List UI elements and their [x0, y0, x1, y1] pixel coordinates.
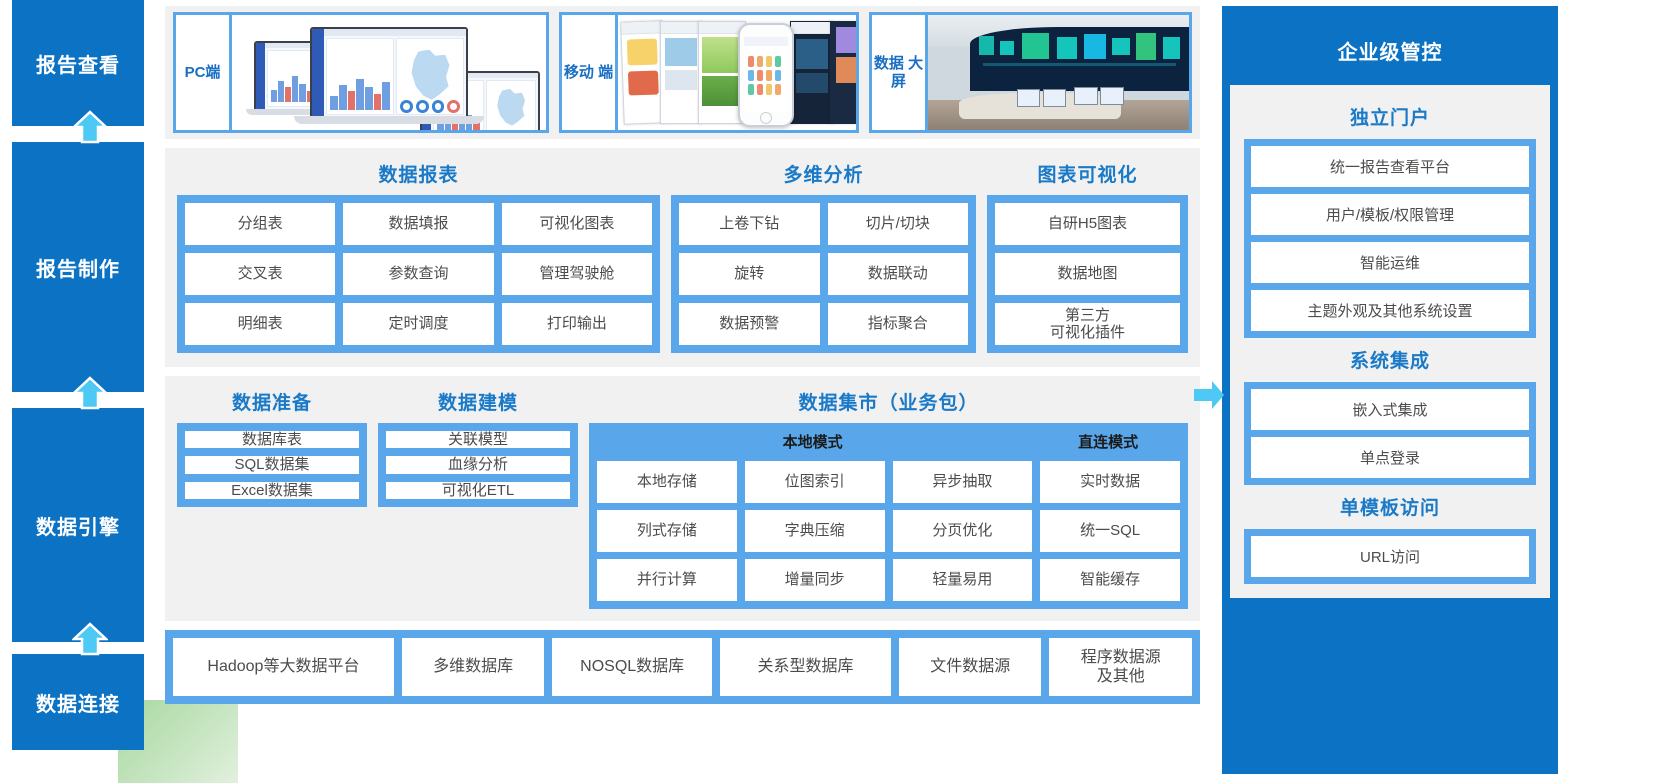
group-box: 上卷下钻 切片/切块 旋转 数据联动 数据预警 指标聚合 — [671, 195, 976, 353]
group-row: 并行计算 增量同步 轻量易用 智能缓存 — [597, 559, 1180, 601]
feature-cell[interactable]: 切片/切块 — [828, 203, 969, 245]
feature-cell[interactable]: 数据预警 — [679, 303, 820, 345]
group-row: 数据预警 指标聚合 — [679, 303, 968, 345]
stage-data-engine[interactable]: 数据引擎 — [12, 408, 144, 642]
device-label-mobile: 移动 端 — [562, 15, 618, 130]
stage-label: 报告查看 — [36, 49, 120, 78]
group-title: 数据集市（业务包） — [589, 386, 1188, 423]
stage-arrow-up-2 — [72, 376, 108, 410]
datasource-cell[interactable]: 多维数据库 — [402, 638, 545, 696]
report-layer-panel: 数据报表 分组表 数据填报 可视化图表 交叉表 参数查询 管理驾驶舱 明细表 定 — [165, 148, 1200, 367]
feature-cell[interactable]: 关联模型 — [386, 431, 570, 448]
feature-cell[interactable]: 旋转 — [679, 253, 820, 295]
feature-cell[interactable]: 本地存储 — [597, 461, 737, 503]
governance-item[interactable]: 单点登录 — [1251, 437, 1529, 478]
connection-layer-strip: Hadoop等大数据平台 多维数据库 NOSQL数据库 关系型数据库 文件数据源… — [165, 630, 1200, 704]
feature-cell[interactable]: 分页优化 — [893, 510, 1033, 552]
governance-group-box: 统一报告查看平台 用户/模板/权限管理 智能运维 主题外观及其他系统设置 — [1244, 139, 1536, 338]
feature-cell[interactable]: 可视化图表 — [502, 203, 652, 245]
datasource-cell[interactable]: NOSQL数据库 — [552, 638, 712, 696]
group-row: 数据地图 — [995, 253, 1180, 295]
feature-cell[interactable]: 位图索引 — [745, 461, 885, 503]
feature-cell[interactable]: 自研H5图表 — [995, 203, 1180, 245]
feature-cell[interactable]: 参数查询 — [343, 253, 493, 295]
feature-cell[interactable]: 第三方 可视化插件 — [995, 303, 1180, 345]
stage-report-view[interactable]: 报告查看 — [12, 0, 144, 126]
group-row: 分组表 数据填报 可视化图表 — [185, 203, 652, 245]
group-box: 分组表 数据填报 可视化图表 交叉表 参数查询 管理驾驶舱 明细表 定时调度 打… — [177, 195, 660, 353]
stage-label: 数据引擎 — [36, 511, 120, 540]
feature-cell[interactable]: 列式存储 — [597, 510, 737, 552]
governance-item[interactable]: 主题外观及其他系统设置 — [1251, 290, 1529, 331]
group-row: 列式存储 字典压缩 分页优化 统一SQL — [597, 510, 1180, 552]
feature-cell[interactable]: 并行计算 — [597, 559, 737, 601]
group-title: 多维分析 — [671, 158, 976, 195]
feature-cell[interactable]: 增量同步 — [745, 559, 885, 601]
datasource-cell[interactable]: 程序数据源 及其他 — [1049, 638, 1192, 696]
feature-cell[interactable]: 血缘分析 — [386, 456, 570, 473]
feature-cell[interactable]: 定时调度 — [343, 303, 493, 345]
governance-title: 企业级管控 — [1230, 14, 1550, 85]
governance-group-box: URL访问 — [1244, 529, 1536, 584]
main-architecture-column: PC端 — [165, 6, 1200, 704]
feature-cell[interactable]: 轻量易用 — [893, 559, 1033, 601]
feature-cell[interactable]: 实时数据 — [1040, 461, 1180, 503]
device-card-mobile[interactable]: 移动 端 — [559, 12, 859, 133]
group-data-preparation: 数据准备 数据库表 SQL数据集 Excel数据集 — [177, 386, 367, 507]
group-data-mart: 数据集市（业务包） 本地模式 直连模式 本地存储 位图索引 异步抽取 实时数据 … — [589, 386, 1188, 609]
governance-group-box: 嵌入式集成 单点登录 — [1244, 382, 1536, 485]
governance-panel: 企业级管控 独立门户 统一报告查看平台 用户/模板/权限管理 智能运维 主题外观… — [1222, 6, 1558, 774]
device-card-pc[interactable]: PC端 — [173, 12, 549, 133]
engine-layer-panel: 数据准备 数据库表 SQL数据集 Excel数据集 数据建模 关联模型 血缘分析… — [165, 376, 1200, 621]
group-box: 本地模式 直连模式 本地存储 位图索引 异步抽取 实时数据 列式存储 字典压缩 … — [589, 423, 1188, 609]
feature-cell[interactable]: 异步抽取 — [893, 461, 1033, 503]
stage-label: 数据连接 — [36, 688, 120, 717]
feature-cell[interactable]: 可视化ETL — [386, 482, 570, 499]
device-card-bigscreen[interactable]: 数据 大屏 — [869, 12, 1192, 133]
stage-report-build[interactable]: 报告制作 — [12, 142, 144, 392]
datasource-cell[interactable]: 关系型数据库 — [720, 638, 891, 696]
mode-header-local: 本地模式 — [597, 431, 1028, 452]
mode-header-direct: 直连模式 — [1036, 431, 1180, 452]
governance-group-title: 系统集成 — [1244, 338, 1536, 382]
group-box: 自研H5图表 数据地图 第三方 可视化插件 — [987, 195, 1188, 353]
feature-cell[interactable]: 数据地图 — [995, 253, 1180, 295]
group-title: 数据报表 — [177, 158, 660, 195]
group-data-modeling: 数据建模 关联模型 血缘分析 可视化ETL — [378, 386, 578, 507]
governance-inner: 独立门户 统一报告查看平台 用户/模板/权限管理 智能运维 主题外观及其他系统设… — [1230, 85, 1550, 598]
governance-item[interactable]: 嵌入式集成 — [1251, 389, 1529, 430]
group-data-report: 数据报表 分组表 数据填报 可视化图表 交叉表 参数查询 管理驾驶舱 明细表 定 — [177, 158, 660, 353]
feature-cell[interactable]: 数据填报 — [343, 203, 493, 245]
datasource-cell[interactable]: 文件数据源 — [899, 638, 1042, 696]
group-box: 数据库表 SQL数据集 Excel数据集 — [177, 423, 367, 507]
feature-cell[interactable]: 数据联动 — [828, 253, 969, 295]
group-row: 本地存储 位图索引 异步抽取 实时数据 — [597, 461, 1180, 503]
stage-data-connection[interactable]: 数据连接 — [12, 654, 144, 750]
feature-cell[interactable]: 管理驾驶舱 — [502, 253, 652, 295]
feature-cell[interactable]: 分组表 — [185, 203, 335, 245]
feature-cell[interactable]: SQL数据集 — [185, 456, 359, 473]
arrow-right-to-governance — [1192, 378, 1226, 412]
feature-cell[interactable]: 打印输出 — [502, 303, 652, 345]
device-label-bigscreen: 数据 大屏 — [872, 15, 928, 130]
group-chart-visualization: 图表可视化 自研H5图表 数据地图 第三方 可视化插件 — [987, 158, 1188, 353]
group-title: 数据建模 — [378, 386, 578, 423]
datamart-mode-headers: 本地模式 直连模式 — [597, 431, 1180, 454]
governance-item[interactable]: URL访问 — [1251, 536, 1529, 577]
feature-cell[interactable]: 智能缓存 — [1040, 559, 1180, 601]
feature-cell[interactable]: Excel数据集 — [185, 482, 359, 499]
group-row: 明细表 定时调度 打印输出 — [185, 303, 652, 345]
control-room-art — [928, 15, 1189, 130]
group-row: 第三方 可视化插件 — [995, 303, 1180, 345]
group-multidim-analysis: 多维分析 上卷下钻 切片/切块 旋转 数据联动 数据预警 指标聚合 — [671, 158, 976, 353]
group-row: 旋转 数据联动 — [679, 253, 968, 295]
stage-arrow-up-3 — [72, 622, 108, 656]
group-row: 上卷下钻 切片/切块 — [679, 203, 968, 245]
governance-group-title: 独立门户 — [1244, 95, 1536, 139]
datasource-cell[interactable]: Hadoop等大数据平台 — [173, 638, 394, 696]
feature-cell[interactable]: 字典压缩 — [745, 510, 885, 552]
mobile-app-art — [618, 15, 856, 130]
governance-item[interactable]: 用户/模板/权限管理 — [1251, 194, 1529, 235]
group-box: 关联模型 血缘分析 可视化ETL — [378, 423, 578, 507]
stage-arrow-up-1 — [72, 110, 108, 144]
device-showcase-strip: PC端 — [165, 6, 1200, 139]
feature-cell[interactable]: 统一SQL — [1040, 510, 1180, 552]
governance-group-title: 单模板访问 — [1244, 485, 1536, 529]
group-row: 交叉表 参数查询 管理驾驶舱 — [185, 253, 652, 295]
feature-cell[interactable]: 指标聚合 — [828, 303, 969, 345]
pc-dashboard-art — [232, 15, 546, 130]
governance-item[interactable]: 智能运维 — [1251, 242, 1529, 283]
feature-cell[interactable]: 上卷下钻 — [679, 203, 820, 245]
device-label-pc: PC端 — [176, 15, 232, 130]
group-title: 数据准备 — [177, 386, 367, 423]
feature-cell[interactable]: 交叉表 — [185, 253, 335, 295]
stage-label: 报告制作 — [36, 253, 120, 282]
group-row: 自研H5图表 — [995, 203, 1180, 245]
feature-cell[interactable]: 数据库表 — [185, 431, 359, 448]
group-title: 图表可视化 — [987, 158, 1188, 195]
governance-item[interactable]: 统一报告查看平台 — [1251, 146, 1529, 187]
feature-cell[interactable]: 明细表 — [185, 303, 335, 345]
